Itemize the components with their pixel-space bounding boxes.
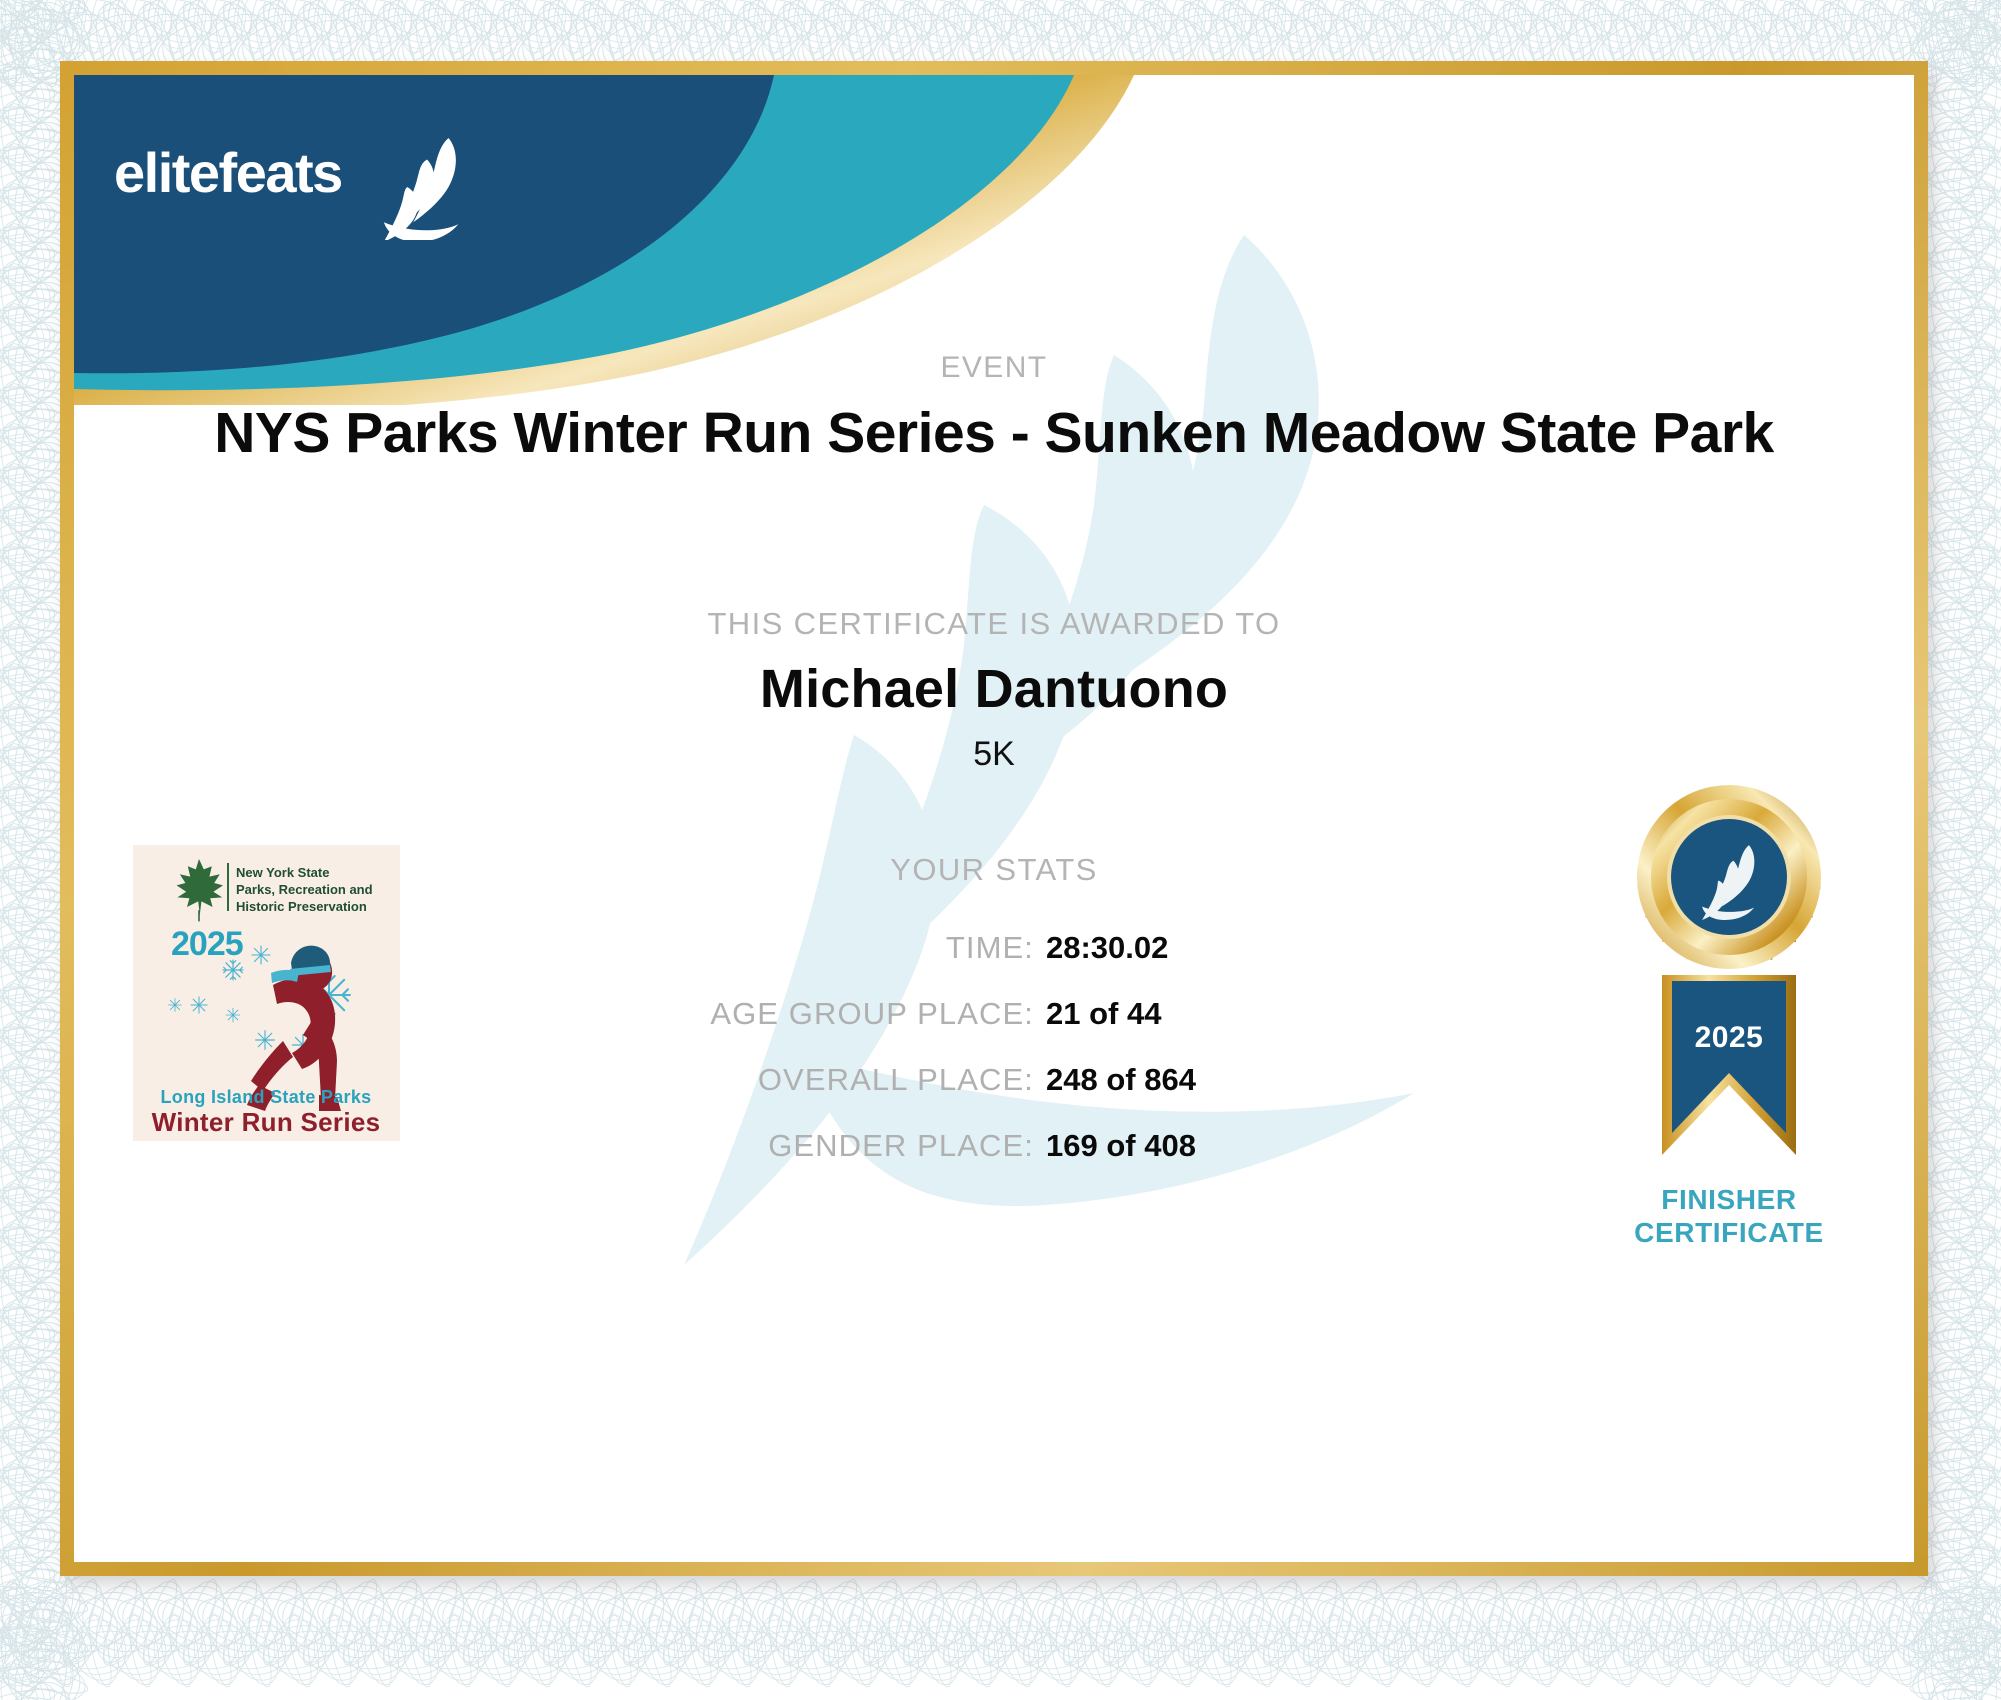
agency-line-1: New York State (236, 865, 329, 880)
race-distance: 5K (74, 735, 1914, 774)
stat-key: TIME: (946, 930, 1034, 966)
event-title: NYS Parks Winter Run Series - Sunken Mea… (74, 400, 1914, 466)
stat-row-age-group-place: AGE GROUP PLACE: 21 of 44 (426, 996, 1246, 1040)
stat-value: 21 of 44 (1046, 996, 1246, 1032)
stats-table: TIME: 28:30.02 AGE GROUP PLACE: 21 of 44… (426, 930, 1246, 1194)
series-line-1: Long Island State Parks (161, 1087, 372, 1107)
certificate-content: EVENT NYS Parks Winter Run Series - Sunk… (74, 75, 1914, 1562)
awarded-to-label: THIS CERTIFICATE IS AWARDED TO (74, 606, 1914, 642)
badge-year: 2025 (1695, 1021, 1764, 1054)
series-line-2: Winter Run Series (152, 1107, 381, 1137)
event-label: EVENT (74, 351, 1914, 385)
elitefeats-logo: elitefeats (114, 130, 494, 240)
elitefeats-wordmark: elitefeats (114, 130, 494, 240)
stat-key: AGE GROUP PLACE: (710, 996, 1034, 1032)
badge-caption-line-2: CERTIFICATE (1574, 1216, 1884, 1249)
stat-row-time: TIME: 28:30.02 (426, 930, 1246, 974)
agency-line-3: Historic Preservation (236, 899, 367, 914)
recipient-name: Michael Dantuono (74, 658, 1914, 720)
stat-row-overall-place: OVERALL PLACE: 248 of 864 (426, 1062, 1246, 1106)
badge-caption-line-1: FINISHER (1574, 1183, 1884, 1216)
stat-key: OVERALL PLACE: (758, 1062, 1034, 1098)
ribbon-icon (1662, 975, 1796, 1155)
stat-value: 28:30.02 (1046, 930, 1246, 966)
event-series-logo: New York State Parks, Recreation and His… (133, 845, 400, 1141)
stat-key: GENDER PLACE: (768, 1128, 1034, 1164)
winged-foot-icon (384, 138, 458, 240)
stat-value: 169 of 408 (1046, 1128, 1246, 1164)
logo-year: 2025 (171, 925, 243, 963)
stat-row-gender-place: GENDER PLACE: 169 of 408 (426, 1128, 1246, 1172)
brand-name-text: elitefeats (114, 141, 342, 204)
agency-line-2: Parks, Recreation and (236, 882, 373, 897)
badge-caption: FINISHER CERTIFICATE (1574, 1183, 1884, 1249)
certificate-paper: elitefeats EVENT NYS Parks Winter Run Se… (74, 75, 1914, 1562)
finisher-badge: 2025 (1574, 785, 1884, 1285)
stat-value: 248 of 864 (1046, 1062, 1246, 1098)
gold-medal-rosette-icon: 2025 (1574, 785, 1884, 1185)
certificate-page: elitefeats EVENT NYS Parks Winter Run Se… (0, 0, 2001, 1700)
